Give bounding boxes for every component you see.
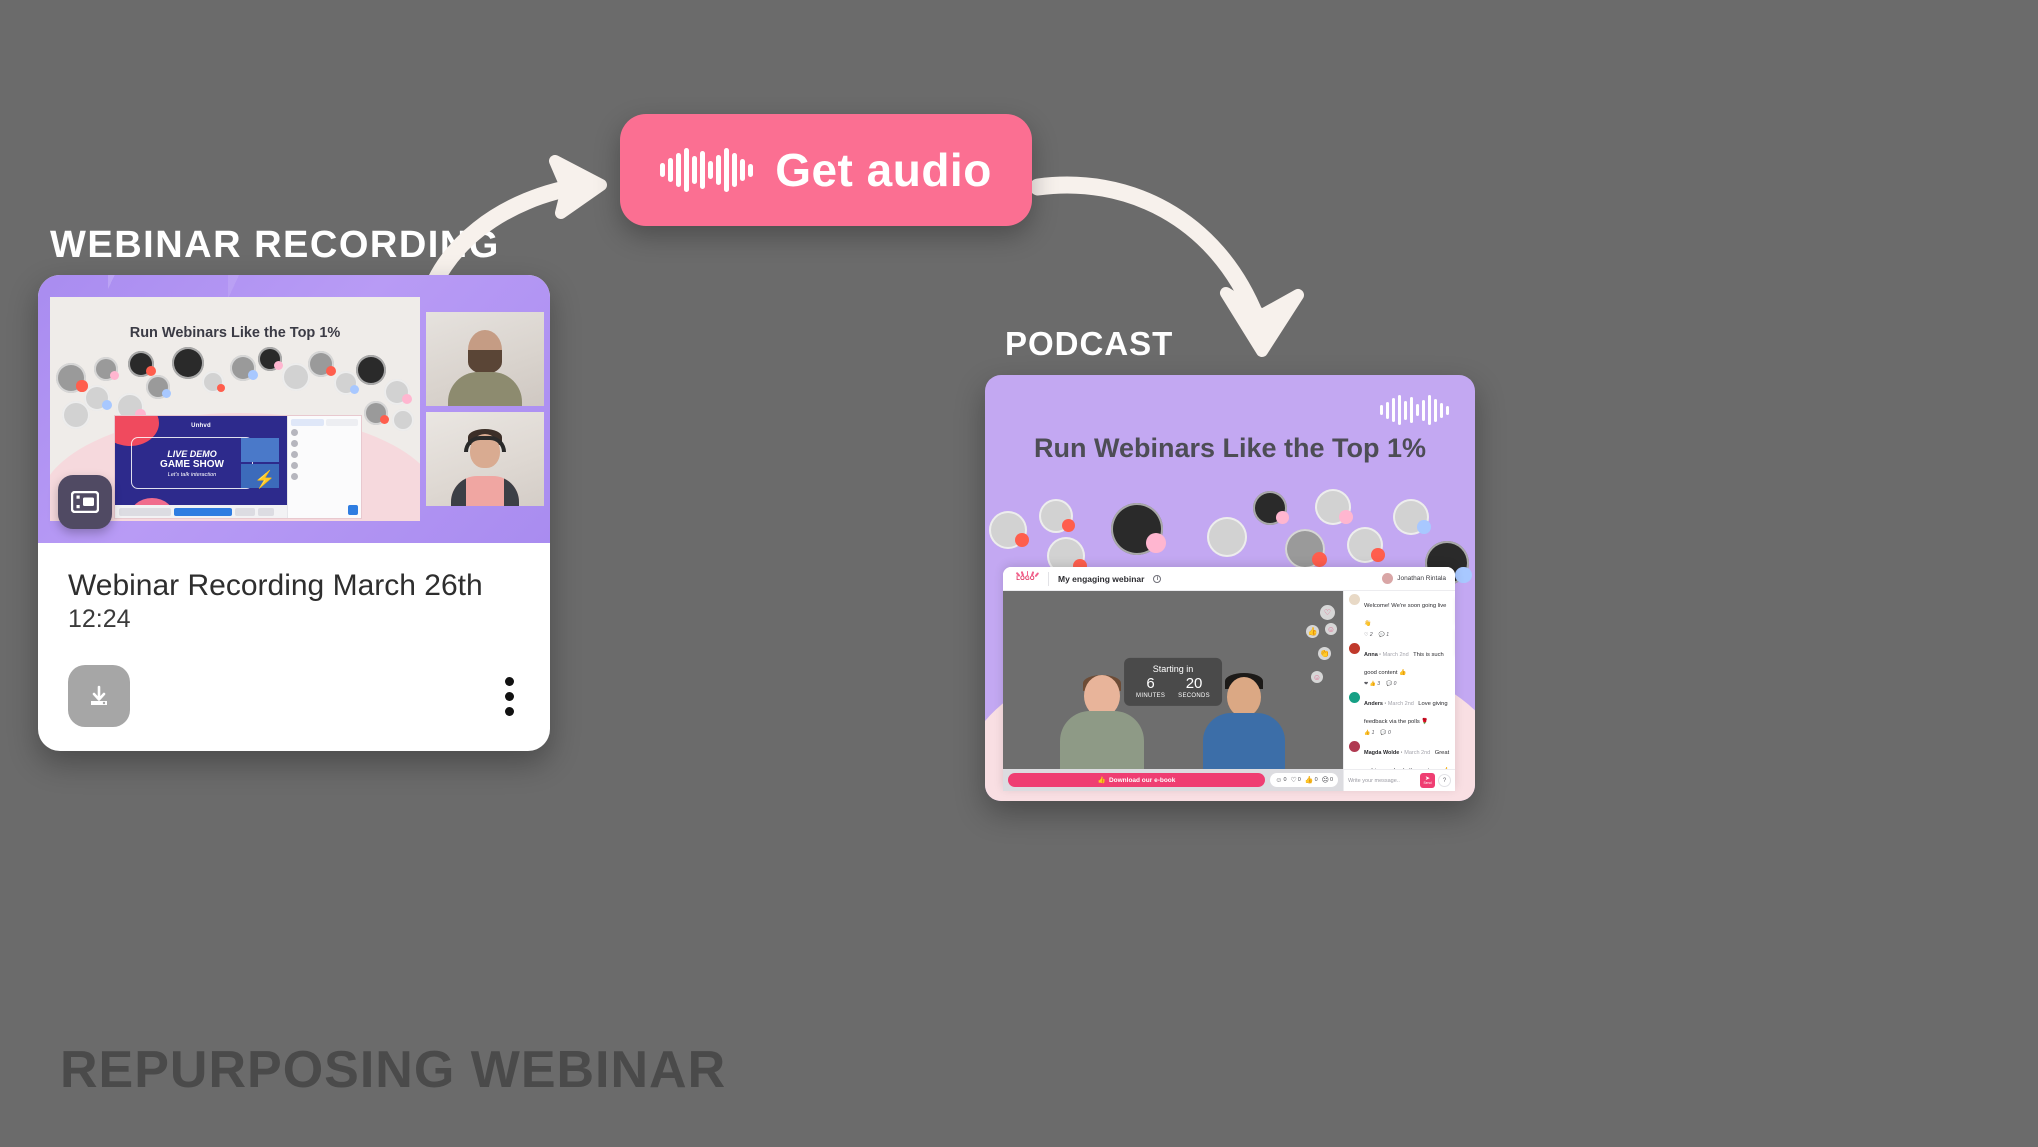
download-icon (84, 681, 114, 711)
podcast-title: Run Webinars Like the Top 1% (985, 433, 1475, 464)
countdown-label: Starting in (1136, 664, 1210, 674)
help-button[interactable]: ? (1438, 774, 1451, 787)
countdown-seconds: 20 SECONDS (1178, 676, 1210, 699)
webinar-recording-label: WEBINAR RECORDING (50, 224, 500, 267)
countdown-minutes: 6 MINUTES (1136, 676, 1165, 699)
chat-message: Anna · March 2nd This is such good conte… (1349, 643, 1450, 687)
brand-logo: LOGO (1012, 570, 1039, 587)
heart-icon[interactable]: ♡ 2 (1364, 632, 1373, 638)
mini-slide-text: LIVE DEMO GAME SHOW Let's talk interacti… (131, 437, 253, 489)
cta-bar: 👍 Download our e-book ☺0 ♡0 👍0 ☹0 (1003, 769, 1343, 791)
avatar (1349, 643, 1360, 654)
reaction-heart[interactable]: ♡0 (1291, 776, 1301, 784)
kebab-menu-icon[interactable] (495, 669, 524, 724)
send-label: Send (1424, 782, 1432, 785)
video-stage[interactable]: Starting in 6 MINUTES 20 SECONDS (1003, 591, 1343, 769)
chat-panel[interactable]: Welcome! We're soon going live 👋 ♡ 2 💬 1 (1343, 591, 1455, 791)
download-button[interactable] (68, 665, 130, 727)
avatar (1349, 692, 1360, 703)
info-icon[interactable]: i (1153, 575, 1161, 583)
participant-video-tiles (420, 275, 550, 543)
comment-icon[interactable]: 💬 0 (1380, 730, 1390, 736)
app-header: LOGO My engaging webinar i Jonathan Rint… (1003, 567, 1455, 591)
reaction-smiley[interactable]: ☺0 (1275, 777, 1286, 784)
chat-reactions[interactable]: ❤ 👍 3 💬 0 (1364, 681, 1450, 687)
thumbs-up-icon[interactable]: 👍 1 (1364, 730, 1374, 736)
heart-icon[interactable]: ❤ 👍 3 (1364, 681, 1380, 687)
chat-reactions[interactable]: ♡ 2 💬 1 (1364, 632, 1450, 638)
webinar-recording-card[interactable]: Run Webinars Like the Top 1% (38, 275, 550, 751)
avatar (1349, 594, 1360, 605)
floating-reactions: ♡ 👍 ☺ 👏 ☺ (1303, 599, 1337, 745)
mini-brand-label: Unhvd (191, 423, 211, 429)
chat-message-list[interactable]: Welcome! We're soon going live 👋 ♡ 2 💬 1 (1344, 591, 1455, 769)
podcast-label: PODCAST (1005, 325, 1173, 363)
podcast-card[interactable]: Run Webinars Like the Top 1% (985, 375, 1475, 801)
clap-icon: 👏 (1318, 647, 1331, 660)
comment-icon[interactable]: 💬 1 (1379, 632, 1389, 638)
cta-label: Download our e-book (1109, 777, 1175, 784)
recording-info: Webinar Recording March 26th 12:24 (38, 543, 550, 634)
reaction-surprised[interactable]: ☹0 (1322, 776, 1333, 784)
smiley-icon: ☺ (1311, 671, 1323, 683)
participant-video-tile (426, 412, 544, 506)
film-strip-icon (58, 475, 112, 529)
chat-message: Magda Wolde · March 2nd Great webinar - … (1349, 741, 1450, 769)
recording-thumbnail[interactable]: Run Webinars Like the Top 1% (38, 275, 550, 543)
chat-author: Anna · March 2nd (1364, 652, 1409, 658)
bottom-heading: REPURPOSING WEBINAR (60, 1040, 726, 1100)
comment-icon[interactable]: 💬 0 (1386, 681, 1396, 687)
reaction-thumbs-up[interactable]: 👍0 (1305, 776, 1318, 784)
recording-duration: 12:24 (68, 605, 520, 634)
send-button[interactable]: ➤ Send (1420, 773, 1435, 788)
header-divider (1048, 572, 1049, 586)
audio-waveform-icon (660, 147, 753, 193)
heart-icon: ♡ (1291, 776, 1297, 784)
avatar (1349, 741, 1360, 752)
audio-waveform-icon (1380, 395, 1450, 425)
webinar-name: My engaging webinar (1058, 574, 1144, 584)
chat-input-row[interactable]: Write your message.. ➤ Send ? (1344, 769, 1455, 791)
thumbs-up-icon: 👍 (1098, 776, 1106, 784)
mini-camera-tile (241, 438, 279, 462)
message-input[interactable]: Write your message.. (1348, 778, 1417, 784)
smiley-icon: ☺ (1275, 777, 1282, 784)
webinar-app-window[interactable]: LOGO My engaging webinar i Jonathan Rint… (1003, 567, 1455, 791)
thumbs-up-icon: 👍 (1306, 625, 1319, 638)
stage-column: Starting in 6 MINUTES 20 SECONDS (1003, 591, 1343, 791)
get-audio-button[interactable]: Get audio (620, 114, 1032, 226)
chat-author: Anders · March 2nd (1364, 701, 1414, 707)
mini-toolbar (115, 505, 287, 518)
recording-actions (68, 665, 524, 727)
logo-rays-icon (1012, 570, 1039, 587)
mini-webinar-app: Unhvd LIVE DEMO GAME SHOW Let's talk int… (114, 415, 362, 519)
heart-icon: ♡ (1320, 605, 1335, 620)
smiley-icon: ☺ (1325, 623, 1337, 635)
host-name: Jonathan Rintala (1397, 575, 1446, 582)
chat-message: Anders · March 2nd Love giving feedback … (1349, 692, 1450, 736)
chat-reactions[interactable]: 👍 1 💬 0 (1364, 730, 1450, 736)
app-body: Starting in 6 MINUTES 20 SECONDS (1003, 591, 1455, 791)
recording-title: Webinar Recording March 26th (68, 569, 520, 603)
host-user[interactable]: Jonathan Rintala (1382, 573, 1446, 584)
mini-slide-stage: Unhvd LIVE DEMO GAME SHOW Let's talk int… (115, 416, 287, 518)
chat-text: Welcome! We're soon going live 👋 (1364, 603, 1446, 627)
avatar (1382, 573, 1393, 584)
mini-chat-panel (287, 416, 361, 518)
thumbs-up-icon: 👍 (1305, 776, 1314, 784)
countdown-overlay: Starting in 6 MINUTES 20 SECONDS (1124, 658, 1222, 706)
surprised-icon: ☹ (1322, 776, 1329, 784)
get-audio-label: Get audio (775, 143, 992, 197)
participant-video-tile (426, 312, 544, 406)
lightning-bolt-icon: ⚡ (254, 471, 275, 488)
poster-canvas: WEBINAR RECORDING PODCAST REPURPOSING WE… (0, 0, 2038, 1147)
chat-message: Welcome! We're soon going live 👋 ♡ 2 💬 1 (1349, 594, 1450, 638)
download-ebook-button[interactable]: 👍 Download our e-book (1008, 773, 1265, 787)
cta-reaction-counts[interactable]: ☺0 ♡0 👍0 ☹0 (1270, 773, 1338, 787)
chat-author: Magda Wolde · March 2nd (1364, 750, 1430, 756)
